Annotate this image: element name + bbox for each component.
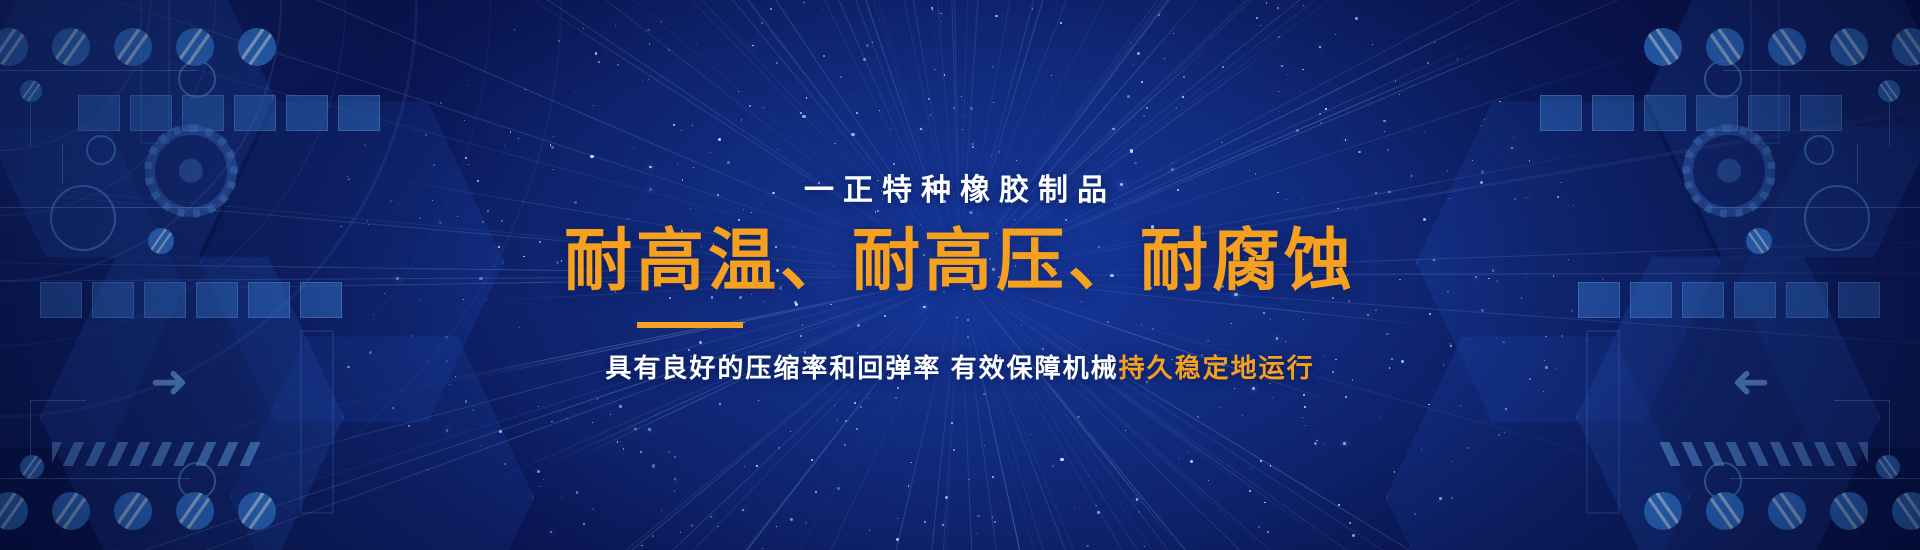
tagline-plain-text: 具有良好的压缩率和回弹率 有效保障机械 [605, 353, 1118, 383]
hero-banner: ➜ [0, 0, 1920, 550]
banner-text-block: 一正特种橡胶制品 耐高温、耐高压、耐腐蚀 具有良好的压缩率和回弹率 有效保障机械… [0, 0, 1920, 550]
orange-divider [637, 322, 743, 328]
tagline-highlight-text: 持久稳定地运行 [1119, 353, 1315, 383]
banner-eyebrow: 一正特种橡胶制品 [804, 165, 1116, 209]
banner-tagline: 具有良好的压缩率和回弹率 有效保障机械持久稳定地运行 [605, 348, 1314, 385]
banner-headline: 耐高温、耐高压、耐腐蚀 [564, 225, 1356, 297]
